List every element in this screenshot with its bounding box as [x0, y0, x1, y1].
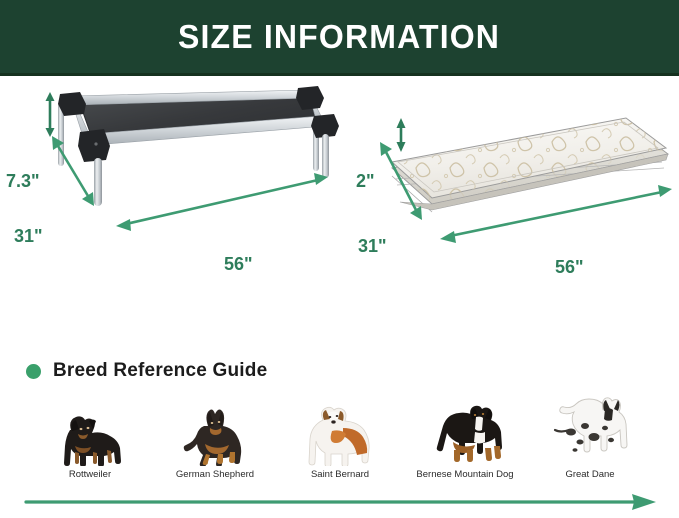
breed-item-saint-bernard: Saint Bernard	[280, 400, 400, 480]
bed-depth-label: 31"	[14, 227, 43, 245]
breed-reference-guide-section: Breed Reference Guide Rottweiler	[0, 336, 679, 518]
mattress-width-label: 56"	[555, 258, 584, 276]
green-dot-icon	[26, 364, 41, 379]
page-header-banner: SIZE INFORMATION	[0, 0, 679, 76]
breed-name-label: Rottweiler	[69, 470, 111, 480]
page-title: SIZE INFORMATION	[178, 20, 500, 53]
breed-name-label: Saint Bernard	[311, 470, 369, 480]
mattress-height-label: 2"	[356, 172, 375, 190]
german-shepherd-icon	[178, 404, 252, 466]
breed-guide-heading: Breed Reference Guide	[26, 360, 267, 382]
bed-width-label: 56"	[224, 255, 253, 273]
breed-item-rottweiler: Rottweiler	[30, 404, 150, 480]
bed-height-label: 7.3"	[6, 172, 40, 190]
saint-bernard-icon	[299, 400, 381, 466]
size-diagrams-section: 7.3" 31" 56"	[0, 76, 679, 336]
size-increase-arrow-icon	[24, 494, 658, 510]
breed-item-bernese-mountain-dog: Bernese Mountain Dog	[405, 400, 525, 480]
breed-list: Rottweiler German Shepherd	[30, 398, 650, 480]
breed-name-label: Great Dane	[565, 470, 614, 480]
mattress-depth-label: 31"	[358, 237, 387, 255]
rottweiler-icon	[51, 404, 129, 466]
breed-name-label: German Shepherd	[176, 470, 254, 480]
mattress-pad-icon	[340, 76, 679, 336]
elevated-bed-icon	[0, 76, 340, 336]
breed-item-german-shepherd: German Shepherd	[155, 404, 275, 480]
bernese-mountain-dog-icon	[423, 400, 507, 466]
breed-item-great-dane: Great Dane	[530, 396, 650, 480]
great-dane-icon	[547, 396, 633, 466]
breed-guide-heading-label: Breed Reference Guide	[53, 360, 267, 382]
elevated-bed-diagram: 7.3" 31" 56"	[0, 76, 340, 336]
mattress-pad-diagram: 2" 31" 56"	[340, 76, 679, 336]
breed-name-label: Bernese Mountain Dog	[416, 470, 513, 480]
